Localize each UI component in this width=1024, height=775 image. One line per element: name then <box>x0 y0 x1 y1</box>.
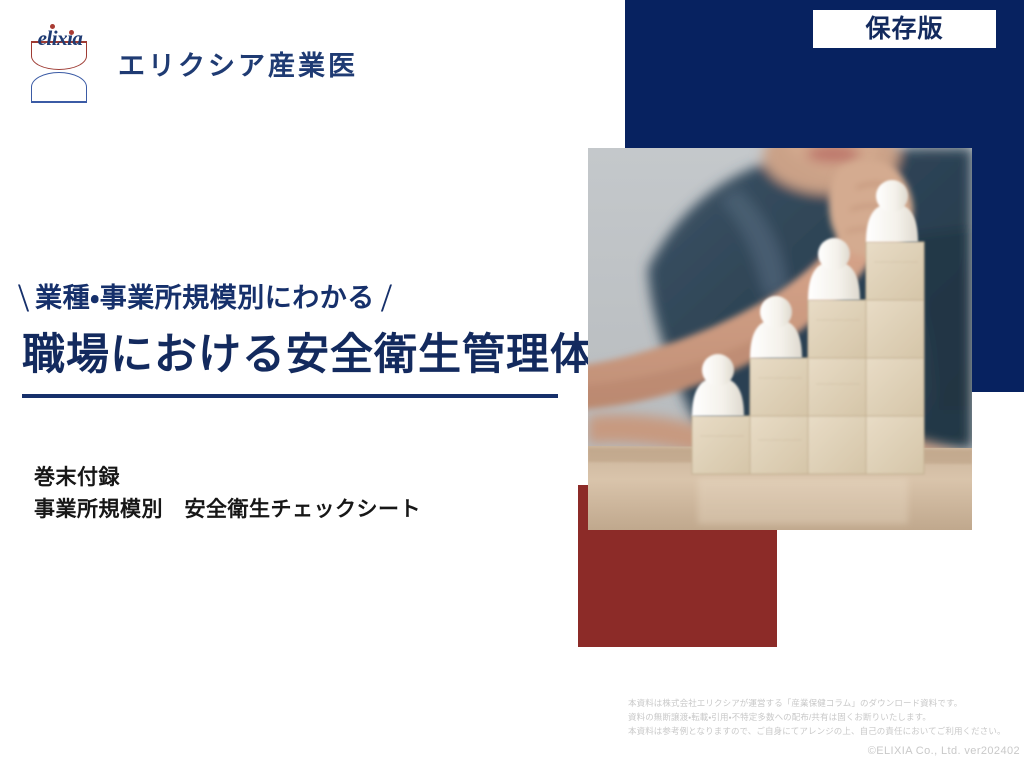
appendix-subheading: 事業所規模別 安全衛生チェックシート <box>34 494 421 526</box>
cover-photo-illustration <box>588 148 972 530</box>
kicker-slash-right-icon: / <box>381 278 392 318</box>
kicker-text: 業種・事業所規模別にわかる <box>35 285 375 312</box>
status-badge-label: 保存版 <box>865 17 943 42</box>
hourglass-logo-icon: elixia <box>24 22 94 110</box>
logo-dot-icon <box>69 30 74 35</box>
brand-name: エリクシア産業医 <box>118 53 358 80</box>
footer-line-2: 資料の無断譲渡・転載・引用・不特定多数への配布/共有は固くお断りいたします。 <box>628 711 1020 725</box>
cover-photo <box>588 148 972 530</box>
title-divider <box>22 394 558 398</box>
logo-dome-shape <box>31 72 87 102</box>
slide-canvas: 保存版 elixia エリクシア産業医 \ 業種・事業所規模別にわかる / 職場… <box>0 0 1024 775</box>
copyright-text: ©ELIXIA Co., Ltd. ver202402 <box>628 743 1020 761</box>
footer-line-3: 本資料は参考例となりますので、ご自身にてアレンジの上、自己の責任においてご利用く… <box>628 725 1020 739</box>
kicker-row: \ 業種・事業所規模別にわかる / <box>0 275 580 321</box>
title-block: \ 業種・事業所規模別にわかる / 職場における安全衛生管理体制 <box>0 275 580 398</box>
brand-logo: elixia エリクシア産業医 <box>24 22 358 110</box>
appendix-heading: 巻末付録 <box>34 462 421 494</box>
footer-disclaimer: 本資料は株式会社エリクシアが運営する「産業保健コラム」のダウンロード資料です。 … <box>628 697 1020 761</box>
appendix-block: 巻末付録 事業所規模別 安全衛生チェックシート <box>34 462 421 525</box>
logo-wordmark: elixia <box>31 28 89 49</box>
kicker-slash-left-icon: \ <box>18 278 29 318</box>
logo-dome-base <box>31 101 87 103</box>
status-badge: 保存版 <box>813 10 996 48</box>
page-title: 職場における安全衛生管理体制 <box>0 331 580 380</box>
footer-line-1: 本資料は株式会社エリクシアが運営する「産業保健コラム」のダウンロード資料です。 <box>628 697 1020 711</box>
logo-dot-icon <box>50 24 55 29</box>
